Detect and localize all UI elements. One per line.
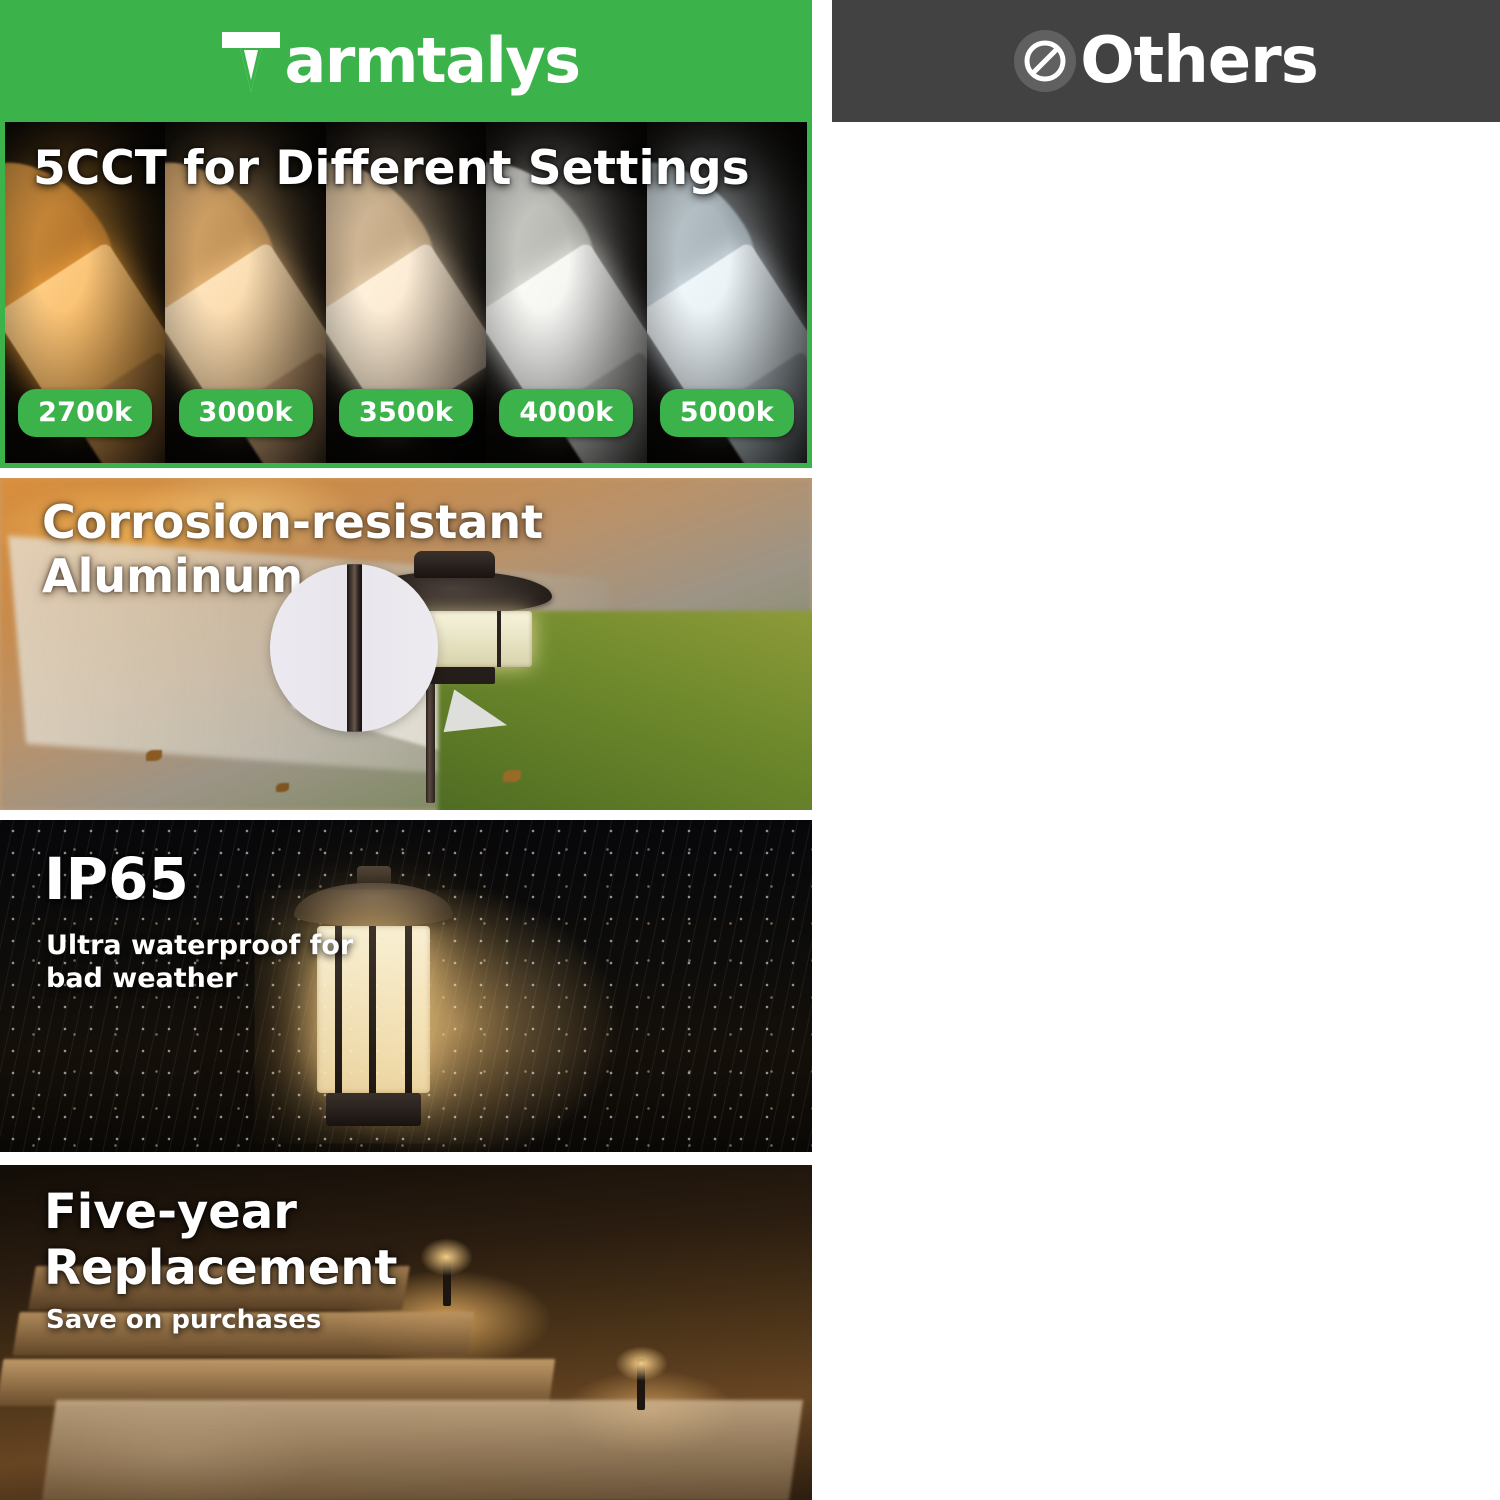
magnified-pole-detail: [347, 564, 362, 732]
prohibition-icon: [1014, 30, 1076, 92]
panel-five-year-replacement: Five-year Replacement Save on purchases: [0, 1165, 812, 1500]
pathway-lantern: [289, 866, 459, 1136]
others-header: Others: [832, 0, 1500, 122]
cct-badge-slot: 5000k: [647, 389, 807, 437]
panel-subtitle-ip65-line1: Ultra waterproof for: [46, 930, 353, 962]
cct-badge-5000k: 5000k: [660, 389, 794, 437]
brand-header: armtalys: [0, 0, 812, 122]
cct-badge-slot: 2700k: [5, 389, 165, 437]
cct-badge-4000k: 4000k: [499, 389, 633, 437]
lamp-base: [430, 667, 495, 684]
panel-caption-five-year-line2: Replacement: [44, 1243, 397, 1295]
cct-badge-3000k: 3000k: [179, 389, 313, 437]
comparison-infographic: armtalys: [0, 0, 1500, 1500]
path-light-upper: [443, 1252, 451, 1306]
lantern-hood: [294, 883, 454, 926]
panel-caption-5cct: 5CCT for Different Settings: [33, 144, 750, 195]
brand-logo: armtalys: [220, 28, 579, 94]
cct-badge-slot: 4000k: [486, 389, 646, 437]
lantern-base: [326, 1093, 421, 1125]
cct-badge-slot: 3000k: [165, 389, 325, 437]
brand-name: armtalys: [284, 30, 579, 92]
panel-5cct: 5CCT for Different Settings 2700k 3000k …: [0, 122, 812, 468]
panel-subtitle-ip65-line2: bad weather: [46, 963, 238, 995]
cct-badge-row: 2700k 3000k 3500k 4000k 5000k: [5, 389, 807, 437]
path-light-lower: [637, 1359, 645, 1409]
panel-caption-five-year-line1: Five-year: [44, 1187, 297, 1239]
brand-column: armtalys: [0, 0, 812, 1500]
lamp-cap: [414, 551, 495, 578]
panel-subtitle-five-year: Save on purchases: [46, 1305, 321, 1336]
zoom-callout-circle: [270, 564, 438, 732]
panel-caption-aluminum-line1: Corrosion-resistant: [42, 498, 543, 548]
panel-caption-ip65: IP65: [44, 848, 189, 911]
cct-badge-3500k: 3500k: [339, 389, 473, 437]
others-title-group: Others: [1014, 29, 1318, 93]
v-chevron-logo-icon: [220, 28, 282, 94]
cct-badge-slot: 3500k: [326, 389, 486, 437]
panel-ip65: IP65 Ultra waterproof for bad weather: [0, 820, 812, 1152]
others-label: Others: [1080, 29, 1318, 93]
panel-caption-aluminum-line2: Aluminum: [42, 552, 303, 602]
stone-path: [42, 1400, 803, 1500]
panel-aluminum: Corrosion-resistant Aluminum: [0, 478, 812, 810]
cct-badge-2700k: 2700k: [18, 389, 152, 437]
others-column: Others Single Color Easily-aging Plastic: [832, 0, 1500, 1500]
